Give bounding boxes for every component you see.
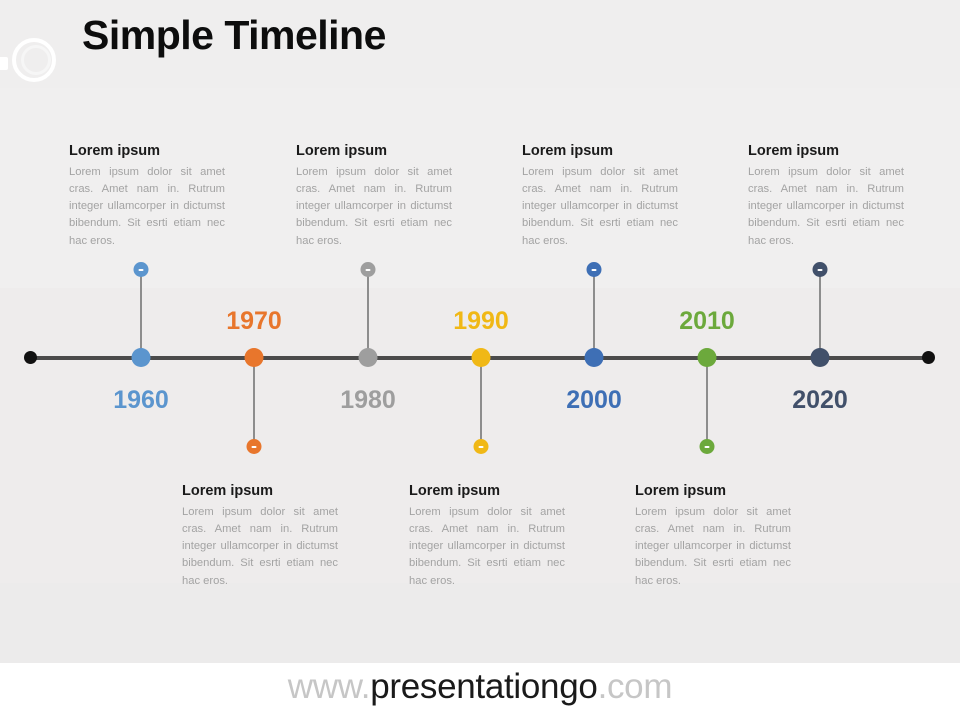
milestone-end-dot[interactable]: [813, 262, 828, 277]
milestone-connector: [706, 358, 708, 446]
milestone-connector: [819, 270, 821, 358]
milestone-title: Lorem ipsum: [182, 483, 338, 499]
milestone-end-dot[interactable]: [700, 439, 715, 454]
milestone-body: Lorem ipsum dolor sit amet cras. Amet na…: [522, 164, 678, 250]
year-label-1980: 1980: [340, 386, 396, 415]
milestone-end-dot[interactable]: [134, 262, 149, 277]
footer-brand: presentationgo: [370, 667, 597, 706]
milestone-text-block: Lorem ipsumLorem ipsum dolor sit amet cr…: [69, 143, 225, 250]
milestone-end-dot[interactable]: [474, 439, 489, 454]
milestone-title: Lorem ipsum: [69, 143, 225, 159]
milestone-title: Lorem ipsum: [409, 483, 565, 499]
milestone-node-1970[interactable]: [245, 348, 264, 367]
ring-logo-icon: [0, 19, 48, 71]
milestone-text-block: Lorem ipsumLorem ipsum dolor sit amet cr…: [748, 143, 904, 250]
milestone-text-block: Lorem ipsumLorem ipsum dolor sit amet cr…: [182, 483, 338, 590]
milestone-end-dot[interactable]: [587, 262, 602, 277]
milestone-text-block: Lorem ipsumLorem ipsum dolor sit amet cr…: [296, 143, 452, 250]
milestone-node-2010[interactable]: [698, 348, 717, 367]
milestone-title: Lorem ipsum: [748, 143, 904, 159]
milestone-title: Lorem ipsum: [635, 483, 791, 499]
ring-logo-bar: [0, 57, 8, 70]
milestone-body: Lorem ipsum dolor sit amet cras. Amet na…: [296, 164, 452, 250]
milestone-body: Lorem ipsum dolor sit amet cras. Amet na…: [748, 164, 904, 250]
year-label-1960: 1960: [113, 386, 169, 415]
milestone-connector: [480, 358, 482, 446]
milestone-node-2020[interactable]: [811, 348, 830, 367]
milestone-node-1980[interactable]: [359, 348, 378, 367]
milestone-body: Lorem ipsum dolor sit amet cras. Amet na…: [409, 504, 565, 590]
axis-end-cap-right: [922, 351, 935, 364]
milestone-body: Lorem ipsum dolor sit amet cras. Amet na…: [635, 504, 791, 590]
year-label-1970: 1970: [226, 307, 282, 336]
milestone-body: Lorem ipsum dolor sit amet cras. Amet na…: [69, 164, 225, 250]
page-title: Simple Timeline: [82, 12, 386, 59]
milestone-title: Lorem ipsum: [522, 143, 678, 159]
milestone-connector: [593, 270, 595, 358]
milestone-text-block: Lorem ipsumLorem ipsum dolor sit amet cr…: [522, 143, 678, 250]
milestone-connector: [253, 358, 255, 446]
slide-canvas: Simple Timeline 1960Lorem ipsumLorem ips…: [0, 0, 960, 720]
milestone-text-block: Lorem ipsumLorem ipsum dolor sit amet cr…: [635, 483, 791, 590]
milestone-node-1960[interactable]: [132, 348, 151, 367]
milestone-end-dot[interactable]: [361, 262, 376, 277]
milestone-text-block: Lorem ipsumLorem ipsum dolor sit amet cr…: [409, 483, 565, 590]
milestone-connector: [140, 270, 142, 358]
year-label-2000: 2000: [566, 386, 622, 415]
milestone-node-1990[interactable]: [472, 348, 491, 367]
year-label-1990: 1990: [453, 307, 509, 336]
milestone-node-2000[interactable]: [585, 348, 604, 367]
footer-suffix: .com: [598, 667, 673, 706]
milestone-title: Lorem ipsum: [296, 143, 452, 159]
year-label-2020: 2020: [792, 386, 848, 415]
axis-end-cap-left: [24, 351, 37, 364]
milestone-end-dot[interactable]: [247, 439, 262, 454]
milestone-body: Lorem ipsum dolor sit amet cras. Amet na…: [182, 504, 338, 590]
ring-logo-inner-circle: [21, 45, 51, 75]
milestone-connector: [367, 270, 369, 358]
background-band-lower: [0, 583, 960, 663]
year-label-2010: 2010: [679, 307, 735, 336]
footer-branding: www.presentationgo.com: [0, 667, 960, 707]
footer-prefix: www.: [288, 667, 370, 706]
